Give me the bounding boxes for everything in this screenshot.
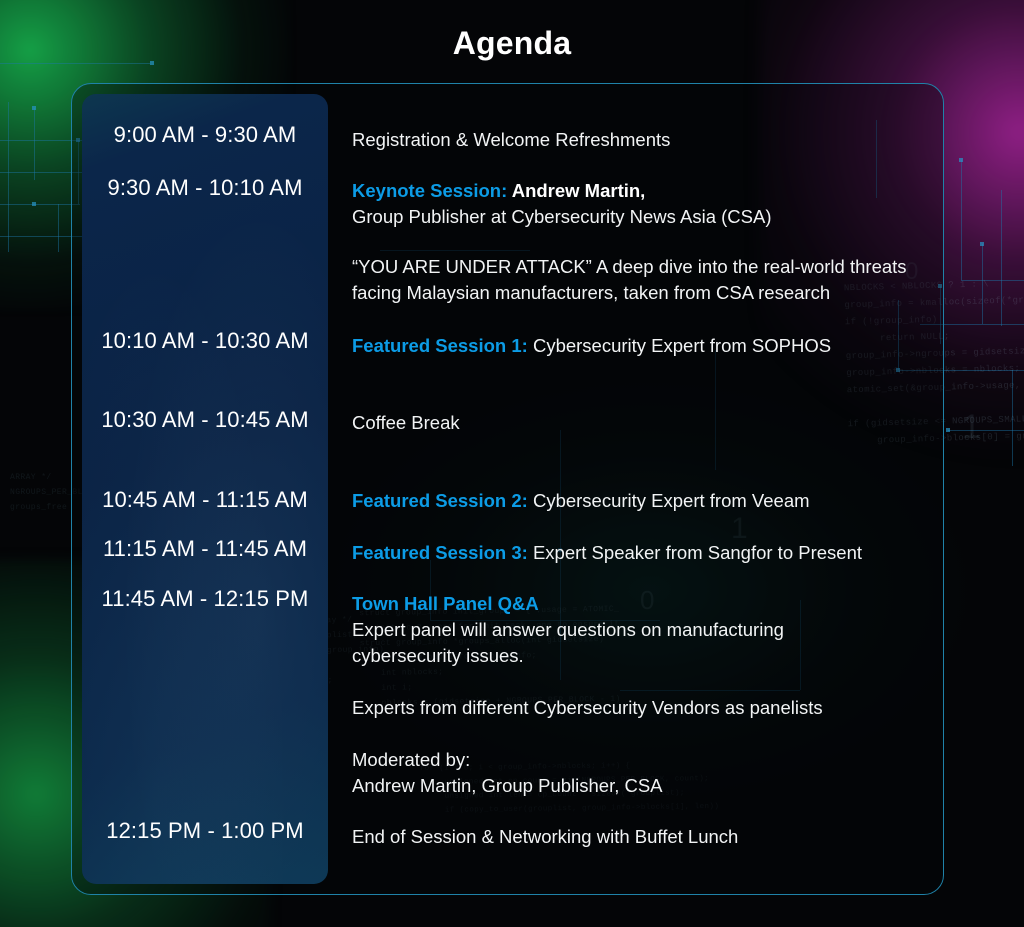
agenda-item-text: Coffee Break [352,412,460,433]
agenda-item: Coffee Break [352,410,927,436]
agenda-item: End of Session & Networking with Buffet … [352,824,927,850]
agenda-item-lead: Town Hall Panel Q&A [352,593,539,614]
agenda-item-line: Expert panel will answer questions on ma… [352,617,927,643]
agenda-item: Featured Session 2: Cybersecurity Expert… [352,488,927,514]
agenda-item-text: Cybersecurity Expert from SOPHOS [528,335,831,356]
circuit-node [946,428,950,432]
circuit-trace [948,430,1024,431]
agenda-item: Town Hall Panel Q&AExpert panel will ans… [352,591,927,669]
agenda-item-line: Featured Session 3: Expert Speaker from … [352,540,927,566]
circuit-trace [58,204,59,252]
agenda-item-text: Group Publisher at Cybersecurity News As… [352,206,771,227]
agenda-time-slot: 10:30 AM - 10:45 AM [82,407,328,433]
circuit-trace [34,108,35,180]
agenda-item: Experts from different Cybersecurity Ven… [352,695,927,721]
agenda-item-text: Registration & Welcome Refreshments [352,129,670,150]
agenda-time-slot: 9:00 AM - 9:30 AM [82,122,328,148]
agenda-time-slot: 10:45 AM - 11:15 AM [82,487,328,513]
agenda-item-speaker: Andrew Martin, [507,180,645,201]
agenda-item: “YOU ARE UNDER ATTACK” A deep dive into … [352,254,927,306]
agenda-item-lead: Featured Session 1: [352,335,528,356]
circuit-node [32,106,36,110]
agenda-item-line: Keynote Session: Andrew Martin, [352,178,927,204]
agenda-slide: NBLOCKS < NBLOCKS ? 1 : \ group_info = k… [0,0,1024,927]
agenda-item-line: facing Malaysian manufacturers, taken fr… [352,280,927,306]
agenda-item-line: Andrew Martin, Group Publisher, CSA [352,773,927,799]
agenda-time-column: 9:00 AM - 9:30 AM9:30 AM - 10:10 AM10:10… [82,94,328,884]
agenda-item-text: Andrew Martin, Group Publisher, CSA [352,775,663,796]
agenda-item-line: End of Session & Networking with Buffet … [352,824,927,850]
agenda-item: Keynote Session: Andrew Martin,Group Pub… [352,178,927,230]
agenda-item-text: facing Malaysian manufacturers, taken fr… [352,282,830,303]
agenda-time-slot: 10:10 AM - 10:30 AM [82,328,328,354]
circuit-trace [961,280,1024,281]
agenda-time-slot: 9:30 AM - 10:10 AM [82,175,328,201]
agenda-item-text: Experts from different Cybersecurity Ven… [352,697,823,718]
circuit-trace [0,63,150,64]
agenda-item-line: Group Publisher at Cybersecurity News As… [352,204,927,230]
agenda-time-slot: 11:15 AM - 11:45 AM [82,536,328,562]
circuit-trace [8,102,9,252]
agenda-item-line: Experts from different Cybersecurity Ven… [352,695,927,721]
circuit-node [32,202,36,206]
agenda-item-line: Coffee Break [352,410,927,436]
agenda-detail-column: Registration & Welcome RefreshmentsKeyno… [328,84,943,894]
agenda-time-slot: 11:45 AM - 12:15 PM [82,586,328,612]
agenda-item-text: “YOU ARE UNDER ATTACK” A deep dive into … [352,256,907,277]
circuit-trace [1012,370,1013,466]
agenda-item-line: Featured Session 2: Cybersecurity Expert… [352,488,927,514]
circuit-trace [982,244,983,324]
agenda-item-text: Cybersecurity Expert from Veeam [528,490,810,511]
agenda-item-text: cybersecurity issues. [352,645,524,666]
agenda-item: Registration & Welcome Refreshments [352,127,927,153]
background-digit: 1 [962,408,981,447]
agenda-item-line: Moderated by: [352,747,927,773]
agenda-item: Featured Session 3: Expert Speaker from … [352,540,927,566]
circuit-trace [0,204,80,205]
agenda-item: Featured Session 1: Cybersecurity Expert… [352,333,927,359]
circuit-trace [1001,190,1002,326]
circuit-node [959,158,963,162]
agenda-item-text: Expert Speaker from Sangfor to Present [528,542,862,563]
agenda-item-lead: Featured Session 3: [352,542,528,563]
agenda-item-line: Registration & Welcome Refreshments [352,127,927,153]
page-title: Agenda [0,25,1024,62]
agenda-item-line: Town Hall Panel Q&A [352,591,927,617]
agenda-item-text: End of Session & Networking with Buffet … [352,826,738,847]
agenda-item-line: cybersecurity issues. [352,643,927,669]
agenda-item-text: Moderated by: [352,749,470,770]
agenda-item-line: “YOU ARE UNDER ATTACK” A deep dive into … [352,254,927,280]
circuit-trace [961,160,962,280]
agenda-item-lead: Keynote Session: [352,180,507,201]
agenda-item-lead: Featured Session 2: [352,490,528,511]
agenda-item-text: Expert panel will answer questions on ma… [352,619,784,640]
agenda-time-slot: 12:15 PM - 1:00 PM [82,818,328,844]
circuit-node [980,242,984,246]
agenda-card: 9:00 AM - 9:30 AM9:30 AM - 10:10 AM10:10… [71,83,944,895]
agenda-item: Moderated by:Andrew Martin, Group Publis… [352,747,927,799]
agenda-item-line: Featured Session 1: Cybersecurity Expert… [352,333,927,359]
